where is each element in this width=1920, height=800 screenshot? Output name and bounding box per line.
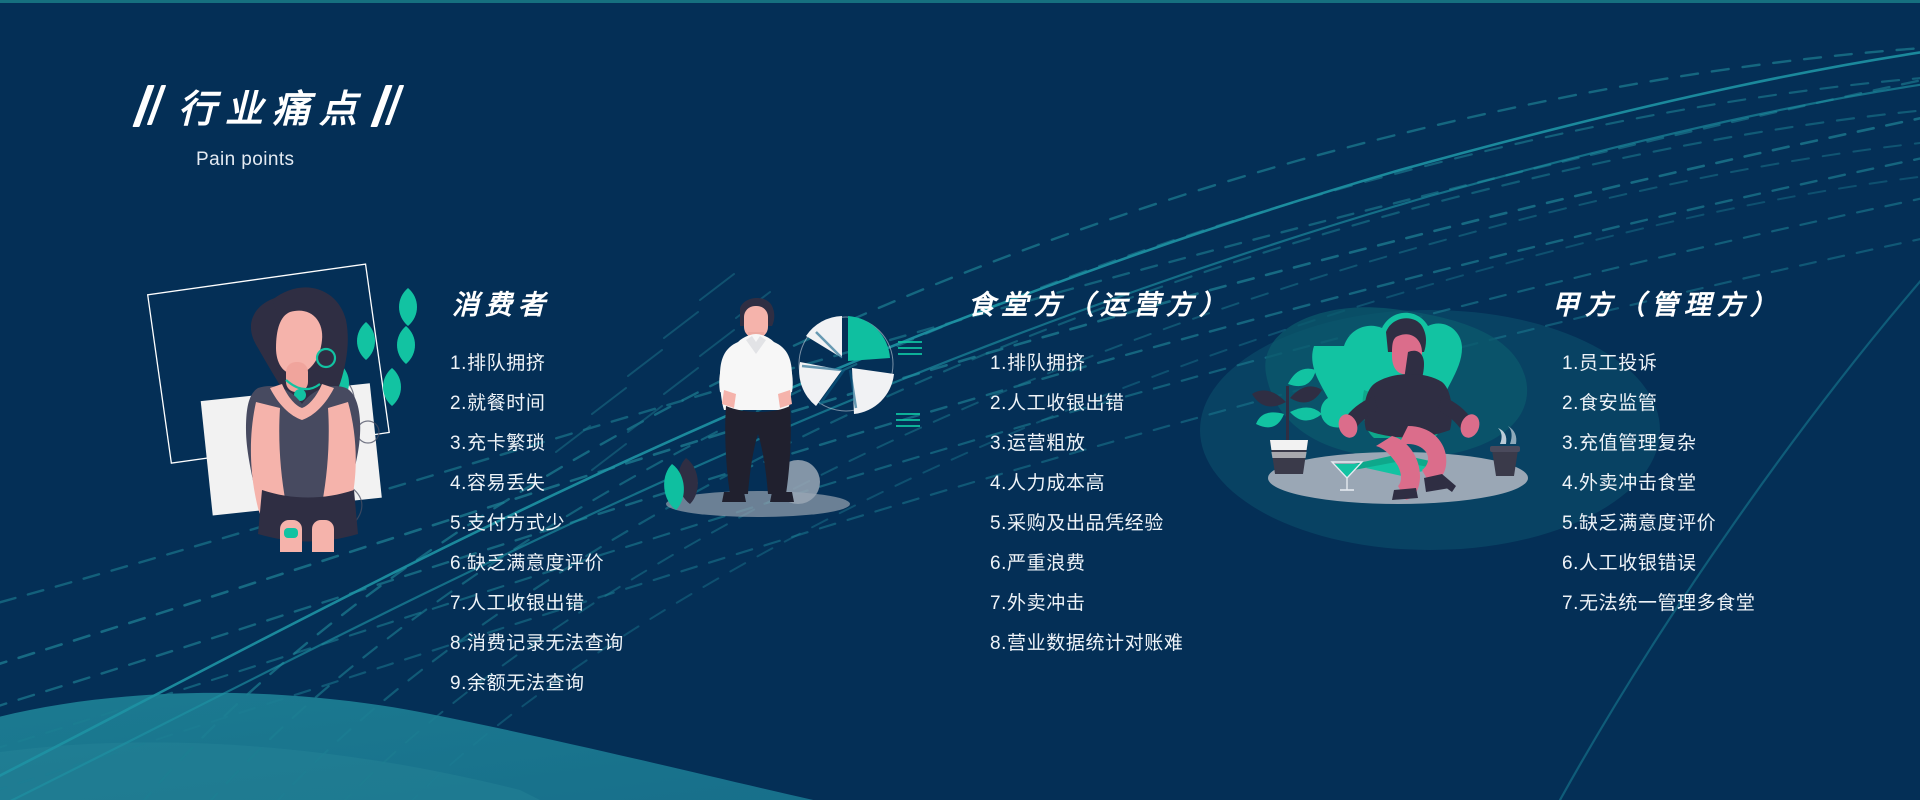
list-item: 2.就餐时间 [450, 384, 624, 424]
list-item: 5.缺乏满意度评价 [1562, 504, 1783, 544]
list-item: 8.消费记录无法查询 [450, 624, 624, 664]
list-item: 5.采购及出品凭经验 [990, 504, 1232, 544]
list-item: 1.排队拥挤 [990, 344, 1232, 384]
page-title: 行业痛点 [178, 78, 366, 133]
list-item: 2.人工收银出错 [990, 384, 1232, 424]
list-item: 1.员工投诉 [1562, 344, 1783, 384]
list-item: 7.外卖冲击 [990, 584, 1232, 624]
client-illustration [1248, 278, 1548, 513]
column-consumer: 消费者 1.排队拥挤 2.就餐时间 3.充卡繁琐 4.容易丢失 5.支付方式少 … [452, 283, 624, 704]
column-heading-consumer: 消费者 [452, 283, 624, 322]
list-item: 6.严重浪费 [990, 544, 1232, 584]
list-item: 2.食安监管 [1562, 384, 1783, 424]
pain-point-list-consumer: 1.排队拥挤 2.就餐时间 3.充卡繁琐 4.容易丢失 5.支付方式少 6.缺乏… [450, 344, 624, 704]
canteen-illustration [640, 290, 930, 520]
column-heading-canteen: 食堂方（运营方） [968, 283, 1232, 322]
pain-point-list-canteen: 1.排队拥挤 2.人工收银出错 3.运营粗放 4.人力成本高 5.采购及出品凭经… [990, 344, 1232, 664]
list-item: 3.运营粗放 [990, 424, 1232, 464]
page-subtitle: Pain points [196, 149, 404, 171]
list-item: 6.缺乏满意度评价 [450, 544, 624, 584]
column-canteen: 食堂方（运营方） 1.排队拥挤 2.人工收银出错 3.运营粗放 4.人力成本高 … [968, 283, 1232, 664]
list-item: 8.营业数据统计对账难 [990, 624, 1232, 664]
list-item: 4.人力成本高 [990, 464, 1232, 504]
list-item: 4.外卖冲击食堂 [1562, 464, 1783, 504]
list-item: 9.余额无法查询 [450, 664, 624, 704]
slash-left-icon [140, 85, 166, 127]
pain-point-list-client: 1.员工投诉 2.食安监管 3.充值管理复杂 4.外卖冲击食堂 5.缺乏满意度评… [1562, 344, 1783, 624]
list-item: 1.排队拥挤 [450, 344, 624, 384]
slide-canvas: 行业痛点 Pain points [0, 0, 1920, 800]
column-client: 甲方（管理方） 1.员工投诉 2.食安监管 3.充值管理复杂 4.外卖冲击食堂 … [1552, 283, 1783, 624]
list-item: 7.无法统一管理多食堂 [1562, 584, 1783, 624]
consumer-illustration [140, 252, 440, 552]
column-heading-client: 甲方（管理方） [1552, 283, 1783, 322]
list-item: 5.支付方式少 [450, 504, 624, 544]
slash-right-icon [378, 85, 404, 127]
list-item: 3.充卡繁琐 [450, 424, 624, 464]
list-item: 4.容易丢失 [450, 464, 624, 504]
slide-header: 行业痛点 Pain points [140, 78, 404, 171]
list-item: 3.充值管理复杂 [1562, 424, 1783, 464]
list-item: 7.人工收银出错 [450, 584, 624, 624]
list-item: 6.人工收银错误 [1562, 544, 1783, 584]
